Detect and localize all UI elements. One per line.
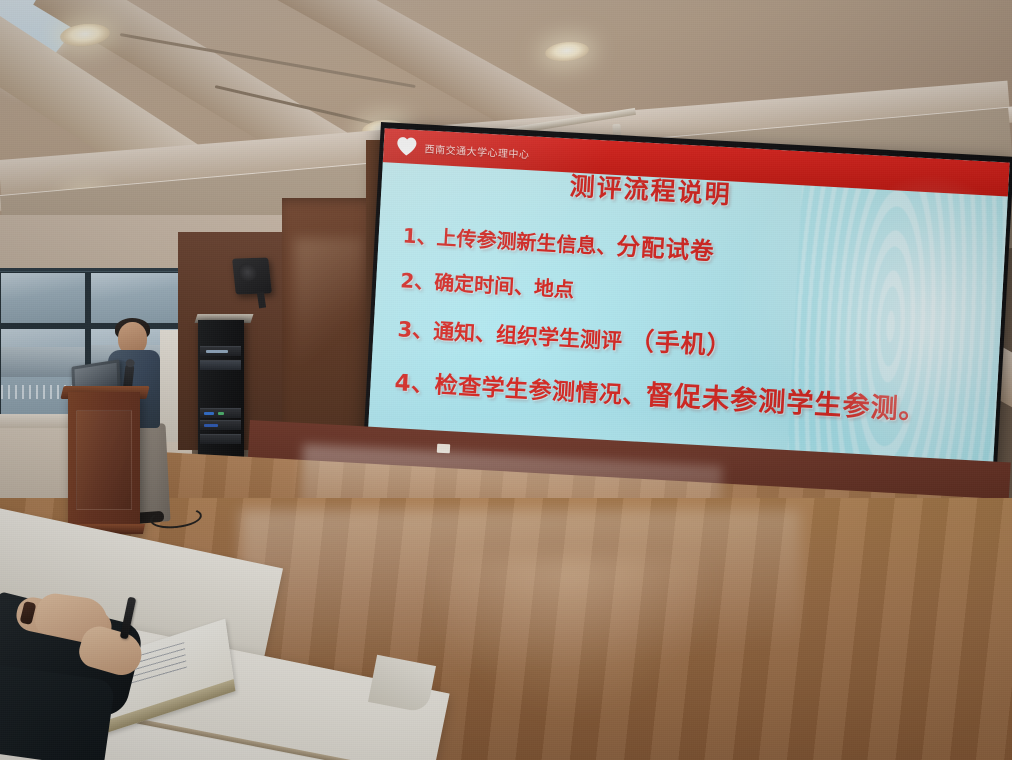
ceiling-downlight <box>544 40 590 63</box>
rack-status-led <box>206 350 228 353</box>
bullet-text: 检查学生参测情况、 <box>434 372 647 410</box>
organization-name: 西南交通大学心理中心 <box>424 140 530 161</box>
bullet-index: 1、 <box>402 223 437 249</box>
bullet-text: 上传参测新生信息、 <box>436 225 617 259</box>
wall-mounted-speaker <box>232 257 272 294</box>
rack-status-led <box>204 412 214 415</box>
bullet-index: 4、 <box>394 370 435 398</box>
bullet-emphasis: 分配试卷 <box>616 232 716 265</box>
slide-bullet-list: 1、上传参测新生信息、分配试卷 2、确定时间、地点 3、通知、组织学生测评 （手… <box>393 215 983 445</box>
rack-unit <box>200 360 241 370</box>
bullet-index: 3、 <box>397 317 434 343</box>
heart-icon <box>395 136 418 157</box>
wooden-podium <box>68 392 140 532</box>
bullet-emphasis: 督促未参测学生参测。 <box>645 380 928 426</box>
av-equipment-rack <box>198 320 244 458</box>
window-pane <box>91 273 179 323</box>
rack-status-led <box>204 424 218 427</box>
bullet-emphasis: （手机） <box>629 326 734 361</box>
bullet-index: 2、 <box>400 268 435 294</box>
podium-front-panel <box>76 410 132 510</box>
rack-unit <box>200 434 241 444</box>
rack-status-led <box>218 412 224 415</box>
bullet-text: 确定时间、地点 <box>434 270 575 302</box>
screen-face: 西南交通大学心理中心 测评流程说明 1、上传参测新生信息、分配试卷 2、确定时间… <box>367 128 1010 482</box>
bullet-text: 通知、组织学生测评 <box>433 319 623 353</box>
floor-light-reflection <box>420 560 720 720</box>
photo-scene: 西南交通大学心理中心 测评流程说明 1、上传参测新生信息、分配试卷 2、确定时间… <box>0 0 1012 760</box>
window-pane <box>1 273 85 323</box>
